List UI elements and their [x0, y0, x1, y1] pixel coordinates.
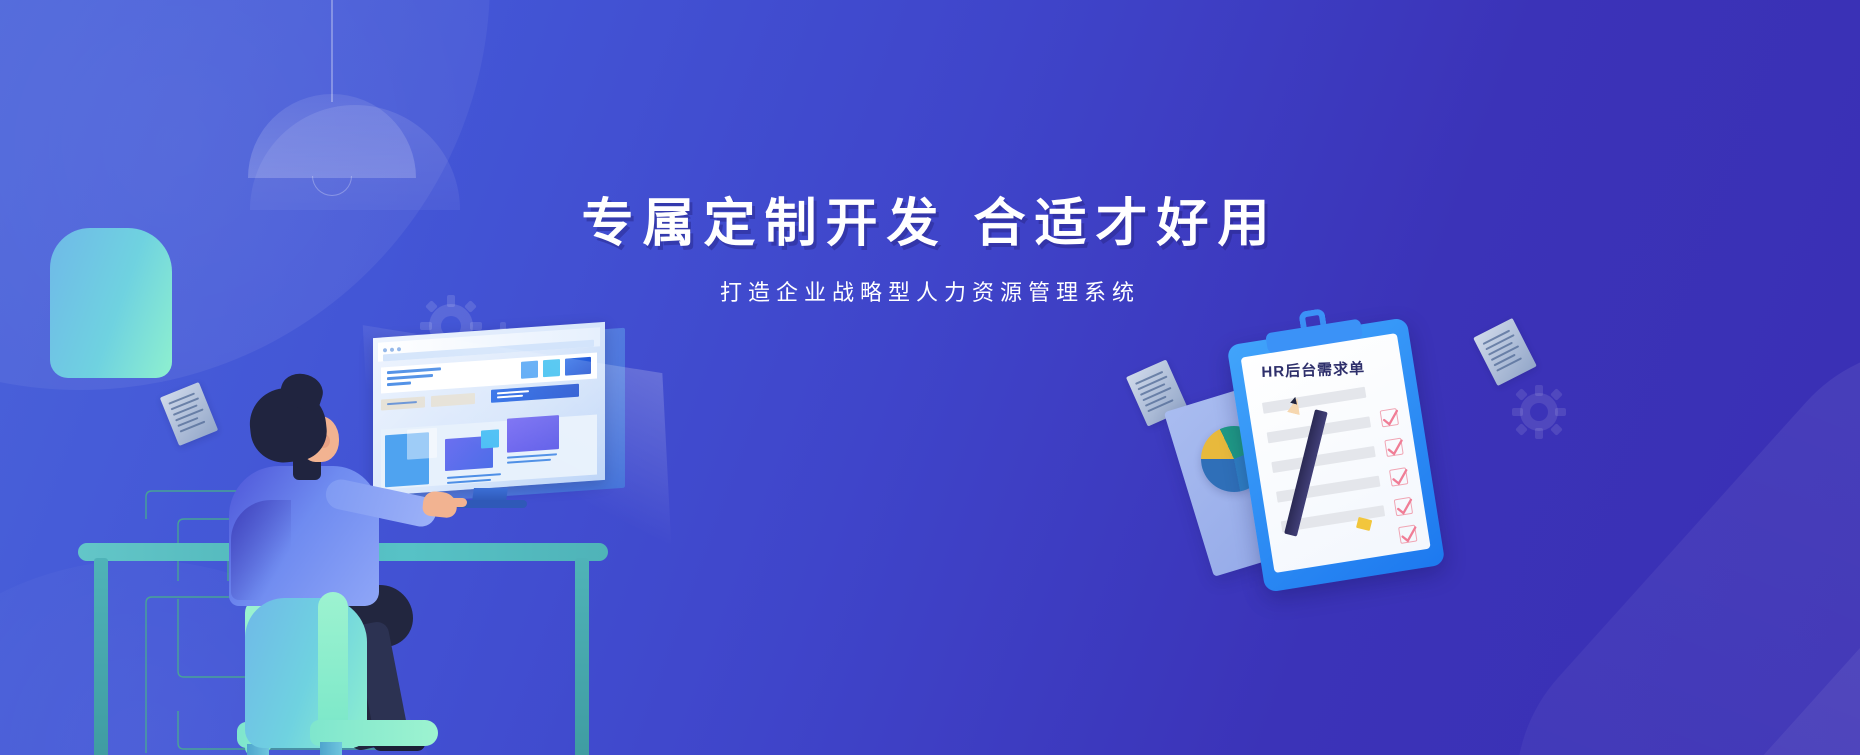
desk-leg	[94, 558, 108, 755]
gear-icon	[1512, 385, 1566, 439]
clipboard-title: HR后台需求单	[1261, 357, 1388, 382]
checkbox-checked[interactable]	[1394, 497, 1413, 516]
checklist-line	[1271, 446, 1375, 473]
page-subtitle: 打造企业战略型人力资源管理系统	[0, 275, 1860, 307]
hr-requirements-illustration: HR后台需求单	[1185, 330, 1485, 630]
window-dots-icon	[383, 347, 401, 352]
clipboard-page: HR后台需求单	[1241, 333, 1431, 573]
checkbox-checked[interactable]	[1384, 438, 1403, 457]
desk-leg	[575, 558, 589, 755]
office-chair-post-front	[320, 742, 342, 755]
page-title: 专属定制开发合适才好用	[0, 196, 1860, 253]
lamp-bulb	[312, 176, 352, 196]
checkbox-checked[interactable]	[1380, 408, 1399, 427]
clipboard: HR后台需求单	[1227, 317, 1446, 592]
person-torso-shading	[231, 500, 291, 600]
hero-banner: HR后台需求单	[0, 0, 1860, 755]
checkbox-checked[interactable]	[1389, 467, 1408, 486]
lamp-cord	[331, 0, 333, 102]
headline-part-1: 专属定制开发	[581, 195, 947, 253]
lamp-dome	[248, 94, 416, 178]
checkbox-checked[interactable]	[1398, 525, 1417, 544]
headline-part-2: 合适才好用	[974, 195, 1279, 253]
hero-copy: 专属定制开发合适才好用 打造企业战略型人力资源管理系统	[0, 196, 1860, 307]
diagonal-shape-2	[1638, 404, 1860, 755]
person-finger	[449, 498, 467, 507]
